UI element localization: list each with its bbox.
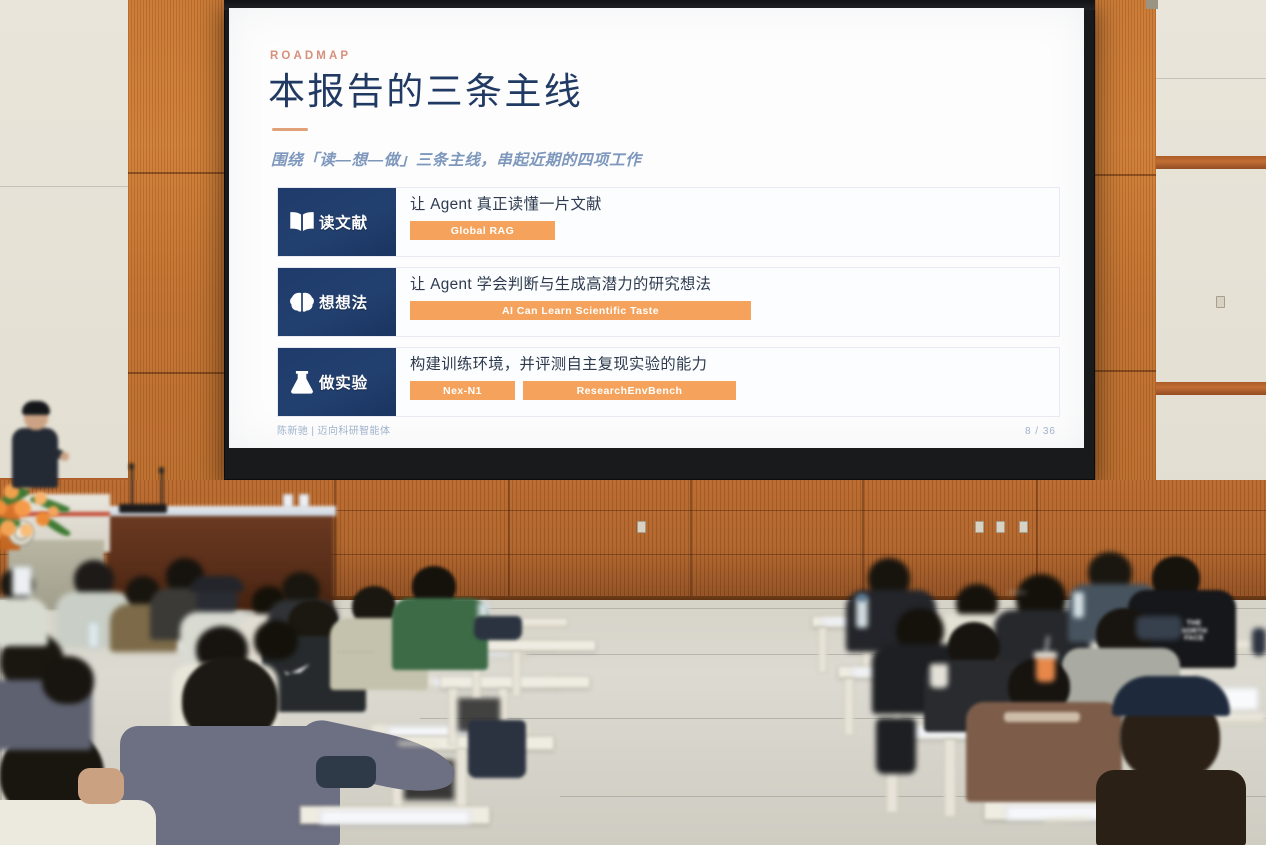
water-bottle (1073, 592, 1084, 618)
nf-line1: THE (1187, 620, 1202, 627)
title-underline-rule (272, 128, 308, 131)
desk-paper-area (320, 810, 470, 824)
lecture-hall-scene: ROADMAP 本报告的三条主线 围绕「读—想—做」三条主线，串起近期的四项工作 (0, 0, 1266, 845)
row-body: 让 Agent 学会判断与生成高潜力的研究想法 AI Can Learn Sci… (396, 268, 1059, 336)
water-bottle (856, 598, 868, 628)
slide-page-number: 8 / 36 (1025, 426, 1056, 437)
roadmap-row[interactable]: 做实验 构建训练环境，并评测自主复现实验的能力 Nex-N1 ResearchE… (277, 347, 1060, 417)
microphone-base (119, 504, 167, 513)
jacket-on-desk (474, 616, 522, 640)
row-chip-list: AI Can Learn Scientific Taste (410, 301, 1059, 320)
eyeglasses (1008, 592, 1026, 597)
row-headline: 构建训练环境，并评测自主复现实验的能力 (410, 356, 1059, 374)
hand (78, 768, 124, 804)
drink-cup (1036, 656, 1055, 682)
speaker-glasses (26, 414, 45, 418)
baseball-cap (1112, 676, 1230, 716)
wall-seam (1150, 78, 1266, 79)
row-badge-label: 读文献 (319, 211, 368, 233)
backpack (468, 720, 526, 778)
wall-trim-right-upper (1150, 156, 1266, 169)
microphone-stem (131, 468, 133, 506)
roadmap-row[interactable]: 读文献 让 Agent 真正读懂一片文献 Global RAG (277, 187, 1060, 257)
speaker-hand (60, 452, 69, 461)
baseball-cap (190, 576, 244, 592)
desk-leg (944, 739, 956, 817)
nf-line2: NORTH (1181, 628, 1207, 635)
project-chip[interactable]: Nex-N1 (410, 381, 515, 400)
held-garment (316, 756, 376, 788)
presentation-slide[interactable]: ROADMAP 本报告的三条主线 围绕「读—想—做」三条主线，串起近期的四项工作 (229, 8, 1084, 448)
desk-leg (448, 688, 458, 746)
project-chip[interactable]: AI Can Learn Scientific Taste (410, 301, 751, 320)
project-chip[interactable]: Global RAG (410, 221, 555, 240)
slide-footer-author: 陈新驰 | 迈向科研智能体 (277, 422, 390, 437)
microphone-head (159, 467, 164, 474)
desk-leg (512, 651, 521, 697)
wood-pilaster-left (128, 0, 226, 482)
row-badge-label: 想想法 (319, 291, 368, 313)
wall-trim-right-lower (1150, 382, 1266, 395)
slide-footer: 陈新驰 | 迈向科研智能体 8 / 36 (277, 422, 1056, 437)
stage-wall-socket (975, 521, 984, 533)
open-book-icon (287, 207, 317, 237)
desk-leg (818, 627, 827, 673)
row-badge: 想想法 (278, 268, 396, 336)
bottle-cap (857, 594, 867, 601)
nf-line3: FACE (1184, 635, 1204, 642)
row-badge-label: 做实验 (319, 371, 368, 393)
speaker-torso (12, 428, 58, 488)
slide-title: 本报告的三条主线 (268, 70, 583, 114)
stage-wall-socket (1019, 521, 1028, 533)
jacket-on-desk (1136, 616, 1182, 640)
stage-wall-socket (996, 521, 1005, 533)
row-headline: 让 Agent 真正读懂一片文献 (410, 196, 1059, 214)
roadmap-row-list: 读文献 让 Agent 真正读懂一片文献 Global RAG (277, 187, 1060, 427)
jacket-collar (1004, 712, 1080, 722)
slide-eyebrow: ROADMAP (270, 50, 351, 62)
desk-leg (844, 678, 854, 736)
speaker-hair (22, 401, 50, 415)
row-badge: 读文献 (278, 188, 396, 256)
drink-cup (930, 664, 948, 688)
wall-socket (1216, 296, 1225, 308)
slide-subtitle: 围绕「读—想—做」三条主线，串起近期的四项工作 (271, 148, 641, 170)
row-badge: 做实验 (278, 348, 396, 416)
project-chip[interactable]: ResearchEnvBench (523, 381, 736, 400)
projection-screen-frame: ROADMAP 本报告的三条主线 围绕「读—想—做」三条主线，串起近期的四项工作 (224, 0, 1095, 480)
water-bottle (88, 622, 99, 648)
backpack (876, 718, 916, 774)
row-body: 让 Agent 真正读懂一片文献 Global RAG (396, 188, 1059, 256)
wood-pilaster-right (1092, 0, 1156, 482)
flask-icon (287, 367, 317, 397)
microphone-head (129, 463, 134, 470)
microphone-stem (161, 472, 163, 506)
water-cup (283, 494, 293, 507)
water-cup (299, 494, 309, 507)
brain-icon (287, 287, 317, 317)
row-chip-list: Nex-N1 ResearchEnvBench (410, 381, 1059, 400)
jacket-print-text: · · · · · · · · (338, 650, 374, 656)
roadmap-row[interactable]: 想想法 让 Agent 学会判断与生成高潜力的研究想法 AI Can Learn… (277, 267, 1060, 337)
stage-wall-socket (637, 521, 646, 533)
pencil (398, 742, 438, 745)
bag (1252, 628, 1266, 656)
row-headline: 让 Agent 学会判断与生成高潜力的研究想法 (410, 276, 1059, 294)
smartphone (12, 566, 32, 596)
row-body: 构建训练环境，并评测自主复现实验的能力 Nex-N1 ResearchEnvBe… (396, 348, 1059, 416)
row-chip-list: Global RAG (410, 221, 1059, 240)
ceiling-fixture (1146, 0, 1158, 9)
